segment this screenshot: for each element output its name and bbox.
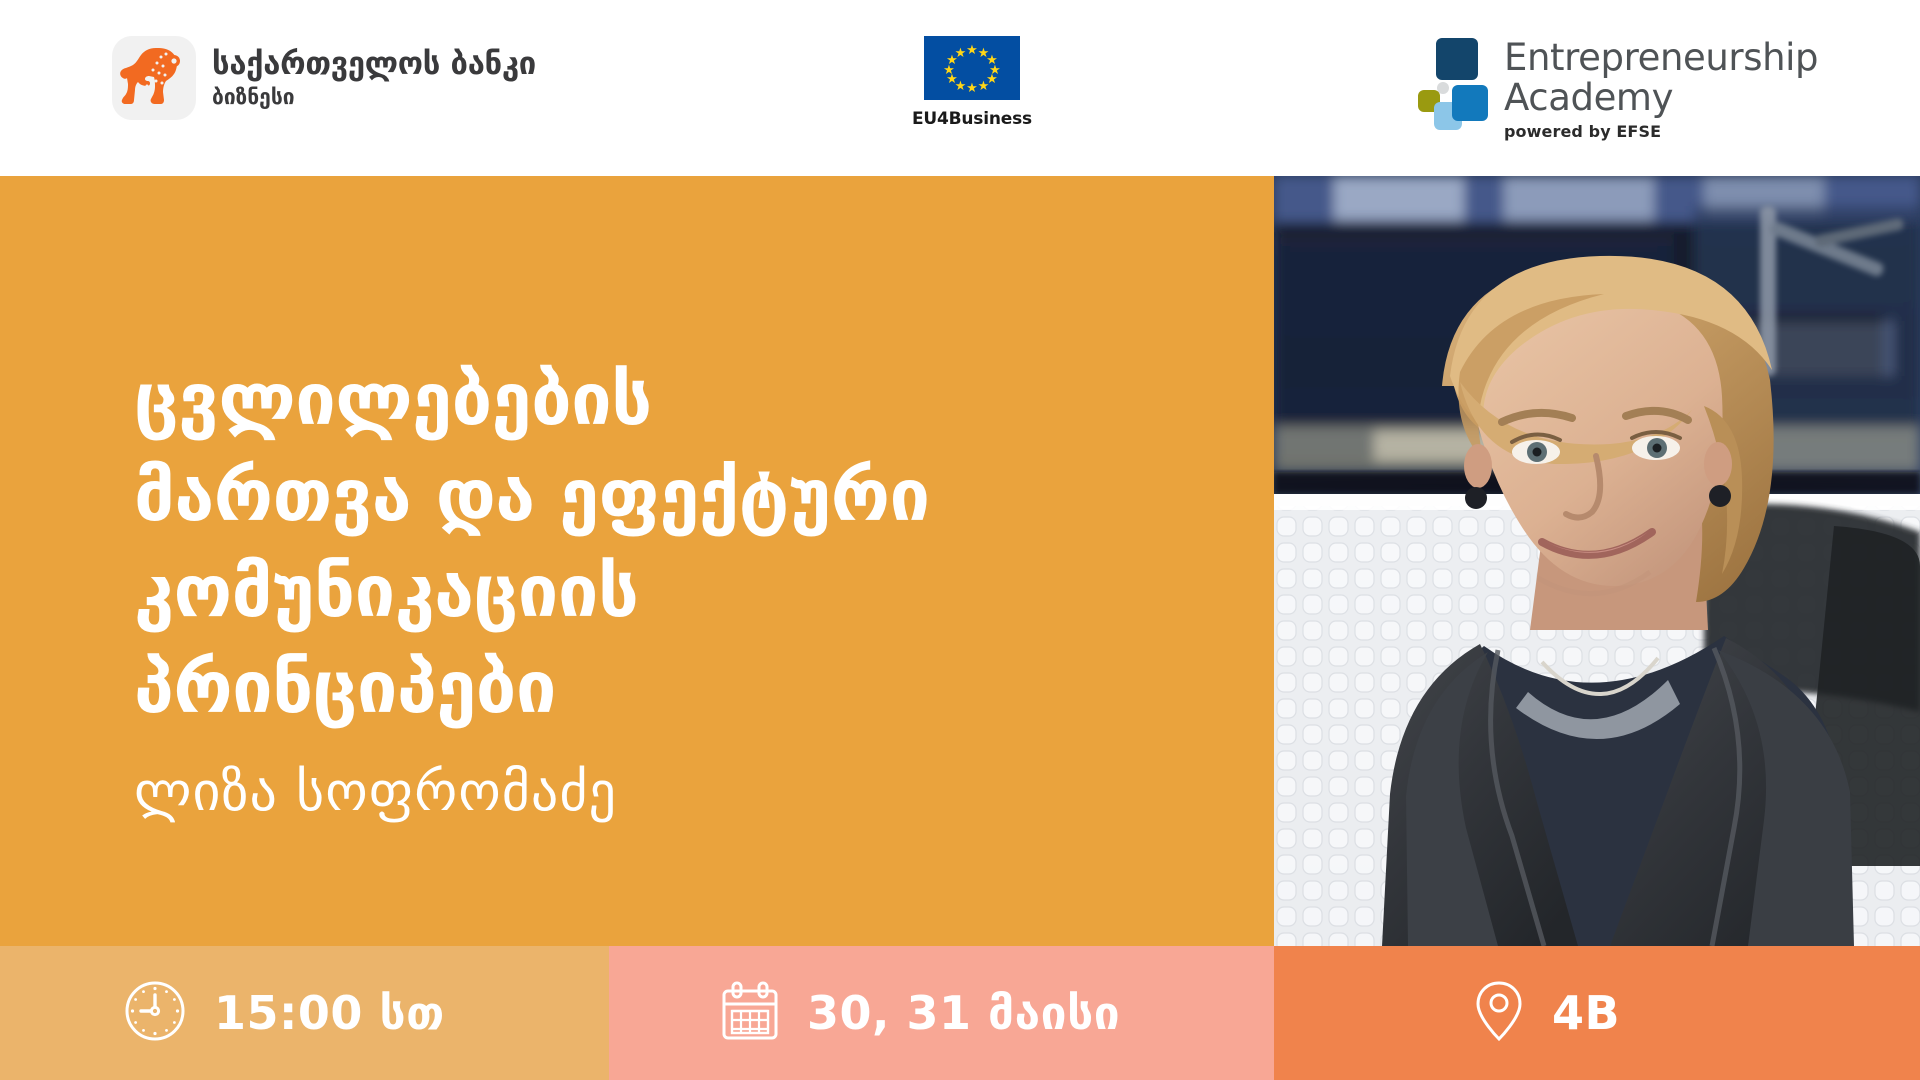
event-time-cell: 15:00 სთ: [0, 946, 609, 1080]
bank-of-georgia-dog-icon: [112, 36, 196, 120]
event-location-label: 4B: [1552, 986, 1620, 1040]
eu4business-logo: ★ ★ ★ ★ ★ ★ ★ ★ ★ ★ ★ ★ EU4Business: [912, 36, 1032, 129]
bank-of-georgia-logo: საქართველოს ბანკი ბიზნესი: [112, 36, 536, 120]
hero-text-block: ცვლილებების მართვა და ეფექტური კომუნიკაც…: [134, 351, 1214, 823]
calendar-icon: [721, 980, 779, 1046]
entrepreneurship-academy-logo: Entrepreneurship Academy powered by EFSE: [1418, 38, 1818, 141]
european-union-flag-icon: ★ ★ ★ ★ ★ ★ ★ ★ ★ ★ ★ ★: [924, 36, 1020, 100]
event-date-label: 30, 31 მაისი: [807, 986, 1120, 1040]
hero-section: ცვლილებების მართვა და ეფექტური კომუნიკაც…: [0, 176, 1920, 946]
academy-name-line1: Entrepreneurship: [1504, 38, 1818, 78]
event-title: ცვლილებების მართვა და ეფექტური კომუნიკაც…: [134, 351, 1214, 735]
sponsor-logo-bar: საქართველოს ბანკი ბიზნესი ★ ★ ★ ★ ★ ★ ★ …: [0, 0, 1920, 176]
speaker-portrait: [1274, 176, 1920, 946]
bank-name-label: საქართველოს ბანკი: [212, 49, 536, 80]
event-announcement-banner: საქართველოს ბანკი ბიზნესი ★ ★ ★ ★ ★ ★ ★ …: [0, 0, 1920, 1080]
clock-icon: [124, 980, 186, 1046]
event-time-label: 15:00 სთ: [214, 986, 445, 1040]
event-details-footer: 15:00 სთ 30, 31 მაისი: [0, 946, 1920, 1080]
event-date-cell: 30, 31 მაისი: [609, 946, 1274, 1080]
entrepreneurship-academy-squares-icon: [1418, 38, 1492, 124]
speaker-name: ლიზა სოფრომაძე: [134, 761, 1214, 823]
event-location-cell: 4B: [1274, 946, 1920, 1080]
eu4business-label: EU4Business: [912, 109, 1032, 129]
academy-name-line2: Academy: [1504, 78, 1818, 118]
location-pin-icon: [1474, 979, 1524, 1047]
bank-segment-label: ბიზნესი: [212, 87, 536, 108]
academy-powered-by-label: powered by EFSE: [1504, 122, 1818, 141]
